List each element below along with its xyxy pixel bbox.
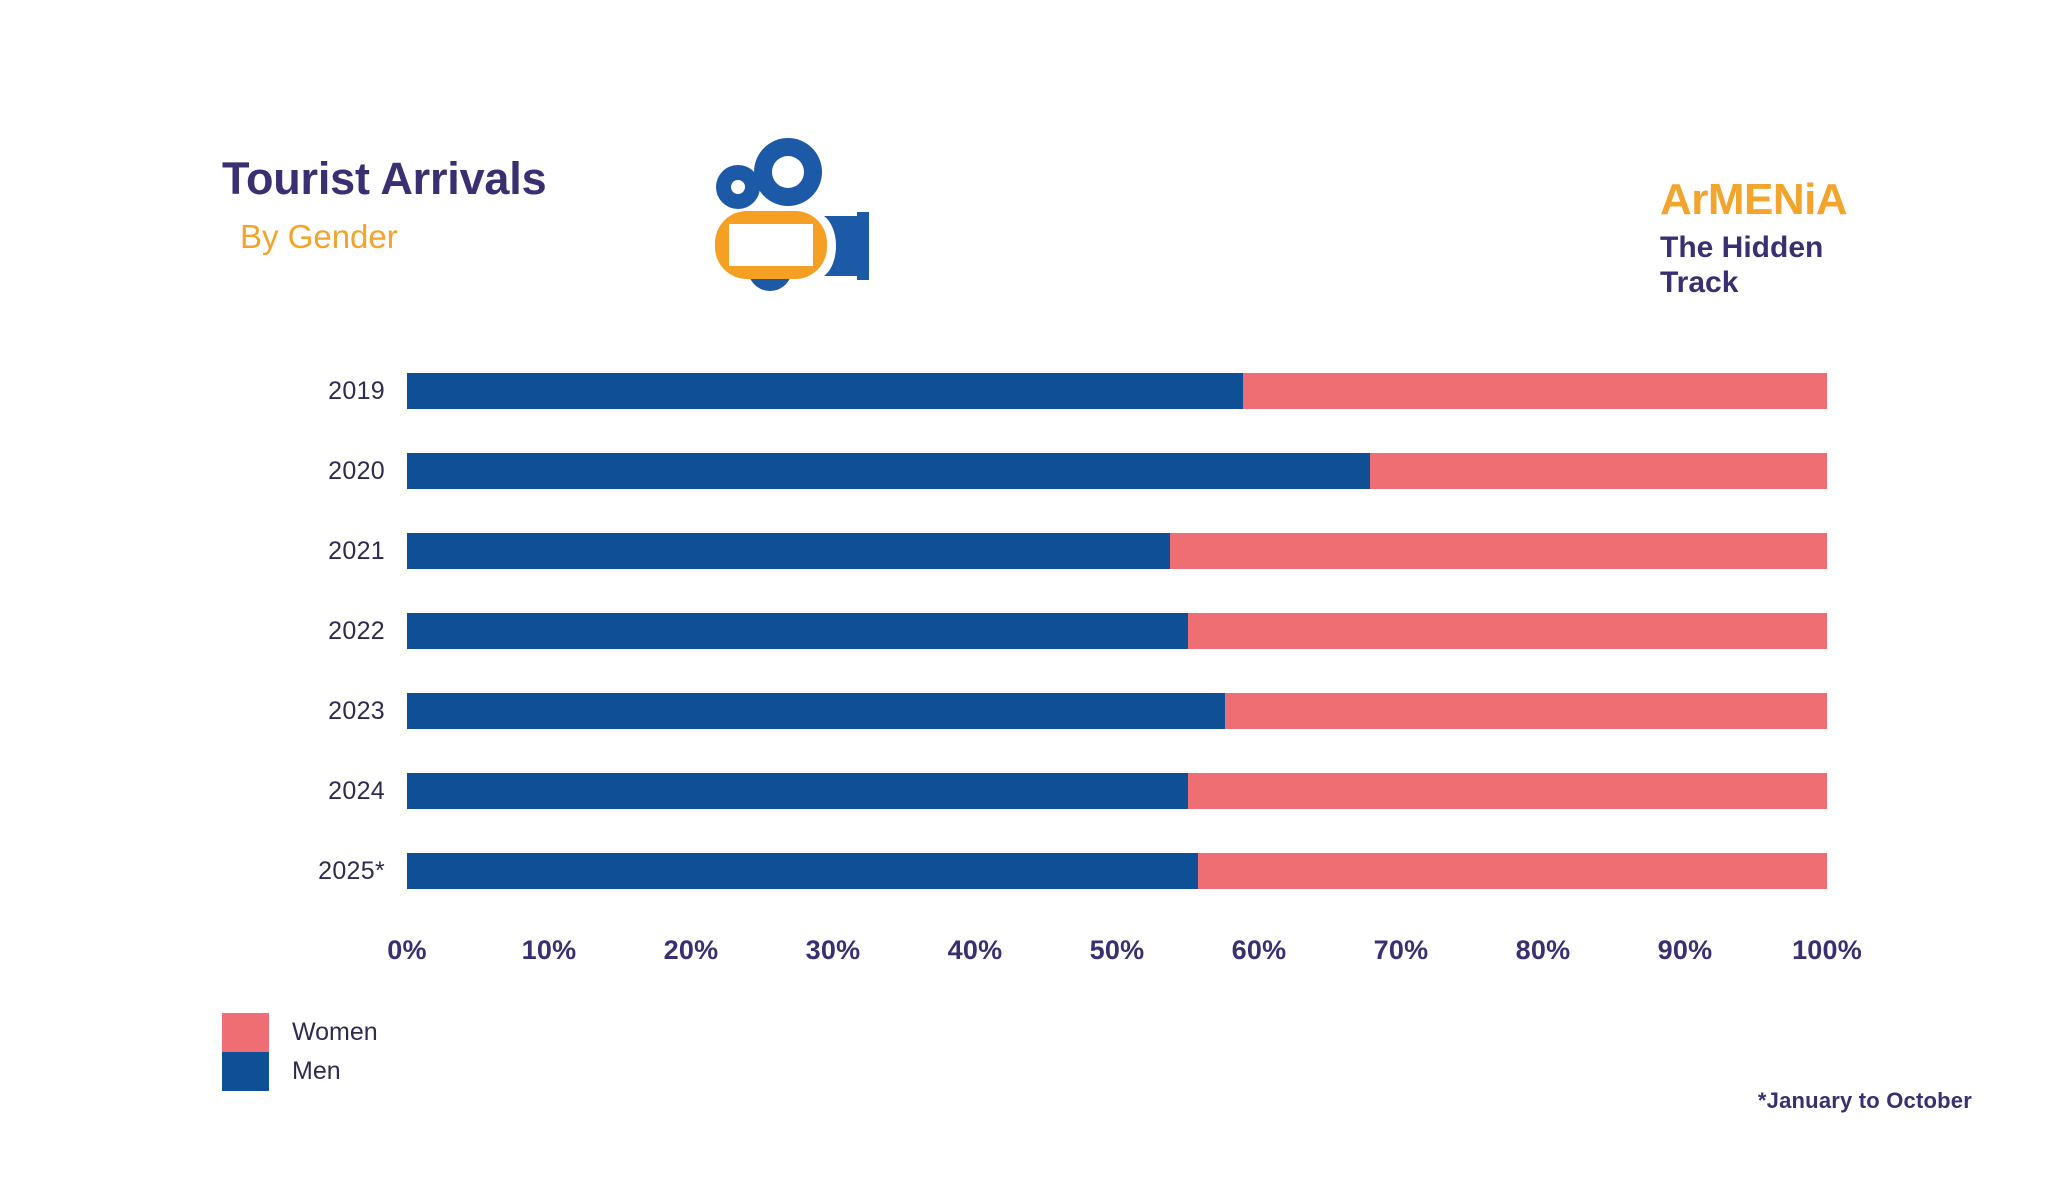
bar-segment-women — [1243, 373, 1827, 409]
legend-label-women: Women — [292, 1018, 378, 1047]
legend-swatch-men-icon — [222, 1052, 269, 1091]
x-axis-tick-label: 80% — [1516, 935, 1571, 966]
bar-row: 2025* — [0, 853, 2048, 889]
x-axis-tick-label: 0% — [387, 935, 426, 966]
bar-year-label: 2020 — [230, 457, 385, 486]
bar-segment-men — [407, 693, 1225, 729]
x-axis-tick-label: 40% — [948, 935, 1003, 966]
chart-legend: Women Men — [222, 1013, 622, 1091]
bar-row: 2019 — [0, 373, 2048, 409]
bar-row: 2024 — [0, 773, 2048, 809]
footnote: *January to October — [1758, 1088, 1972, 1114]
header: Tourist Arrivals By Gender ArMENiA The H… — [0, 0, 2048, 330]
x-axis-tick-label: 60% — [1232, 935, 1287, 966]
bar-year-label: 2024 — [230, 777, 385, 806]
legend-item-men: Men — [222, 1052, 622, 1091]
brand-tagline: The Hidden Track — [1660, 222, 1970, 301]
bar-row: 2022 — [0, 613, 2048, 649]
title-group: Tourist Arrivals By Gender — [222, 155, 682, 256]
bar-track — [407, 533, 1827, 569]
x-axis-tick-label: 20% — [664, 935, 719, 966]
bar-track — [407, 453, 1827, 489]
chart-plot-area: 2019202020212022202320242025* — [0, 365, 2048, 925]
bar-row: 2023 — [0, 693, 2048, 729]
bar-year-label: 2022 — [230, 617, 385, 646]
bar-track — [407, 693, 1827, 729]
x-axis-tick-label: 100% — [1792, 935, 1862, 966]
x-axis-tick-label: 30% — [806, 935, 861, 966]
bar-row: 2021 — [0, 533, 2048, 569]
bar-year-label: 2023 — [230, 697, 385, 726]
movie-camera-icon — [707, 134, 907, 309]
bar-segment-men — [407, 773, 1188, 809]
legend-label-men: Men — [292, 1057, 341, 1086]
page-title: Tourist Arrivals — [222, 155, 682, 202]
bar-row: 2020 — [0, 453, 2048, 489]
bar-segment-women — [1198, 853, 1827, 889]
brand-name: ArMENiA — [1660, 178, 1970, 222]
bar-segment-women — [1188, 613, 1827, 649]
bar-year-label: 2019 — [230, 377, 385, 406]
bar-segment-men — [407, 613, 1188, 649]
x-axis: 0%10%20%30%40%50%60%70%80%90%100% — [407, 935, 1827, 985]
bar-track — [407, 773, 1827, 809]
x-axis-tick-label: 10% — [522, 935, 577, 966]
bar-segment-women — [1170, 533, 1827, 569]
bar-year-label: 2025* — [230, 857, 385, 886]
page-subtitle: By Gender — [222, 202, 682, 256]
bar-segment-women — [1188, 773, 1827, 809]
x-axis-tick-label: 70% — [1374, 935, 1429, 966]
bar-track — [407, 853, 1827, 889]
bar-track — [407, 613, 1827, 649]
bar-segment-women — [1225, 693, 1827, 729]
legend-item-women: Women — [222, 1013, 622, 1052]
x-axis-tick-label: 50% — [1090, 935, 1145, 966]
bar-segment-women — [1370, 453, 1827, 489]
armenia-brand: ArMENiA The Hidden Track — [1660, 178, 1970, 301]
bar-segment-men — [407, 533, 1170, 569]
bar-segment-men — [407, 373, 1243, 409]
x-axis-tick-label: 90% — [1658, 935, 1713, 966]
bar-track — [407, 373, 1827, 409]
bar-year-label: 2021 — [230, 537, 385, 566]
bar-segment-men — [407, 453, 1370, 489]
bar-segment-men — [407, 853, 1198, 889]
legend-swatch-women-icon — [222, 1013, 269, 1052]
